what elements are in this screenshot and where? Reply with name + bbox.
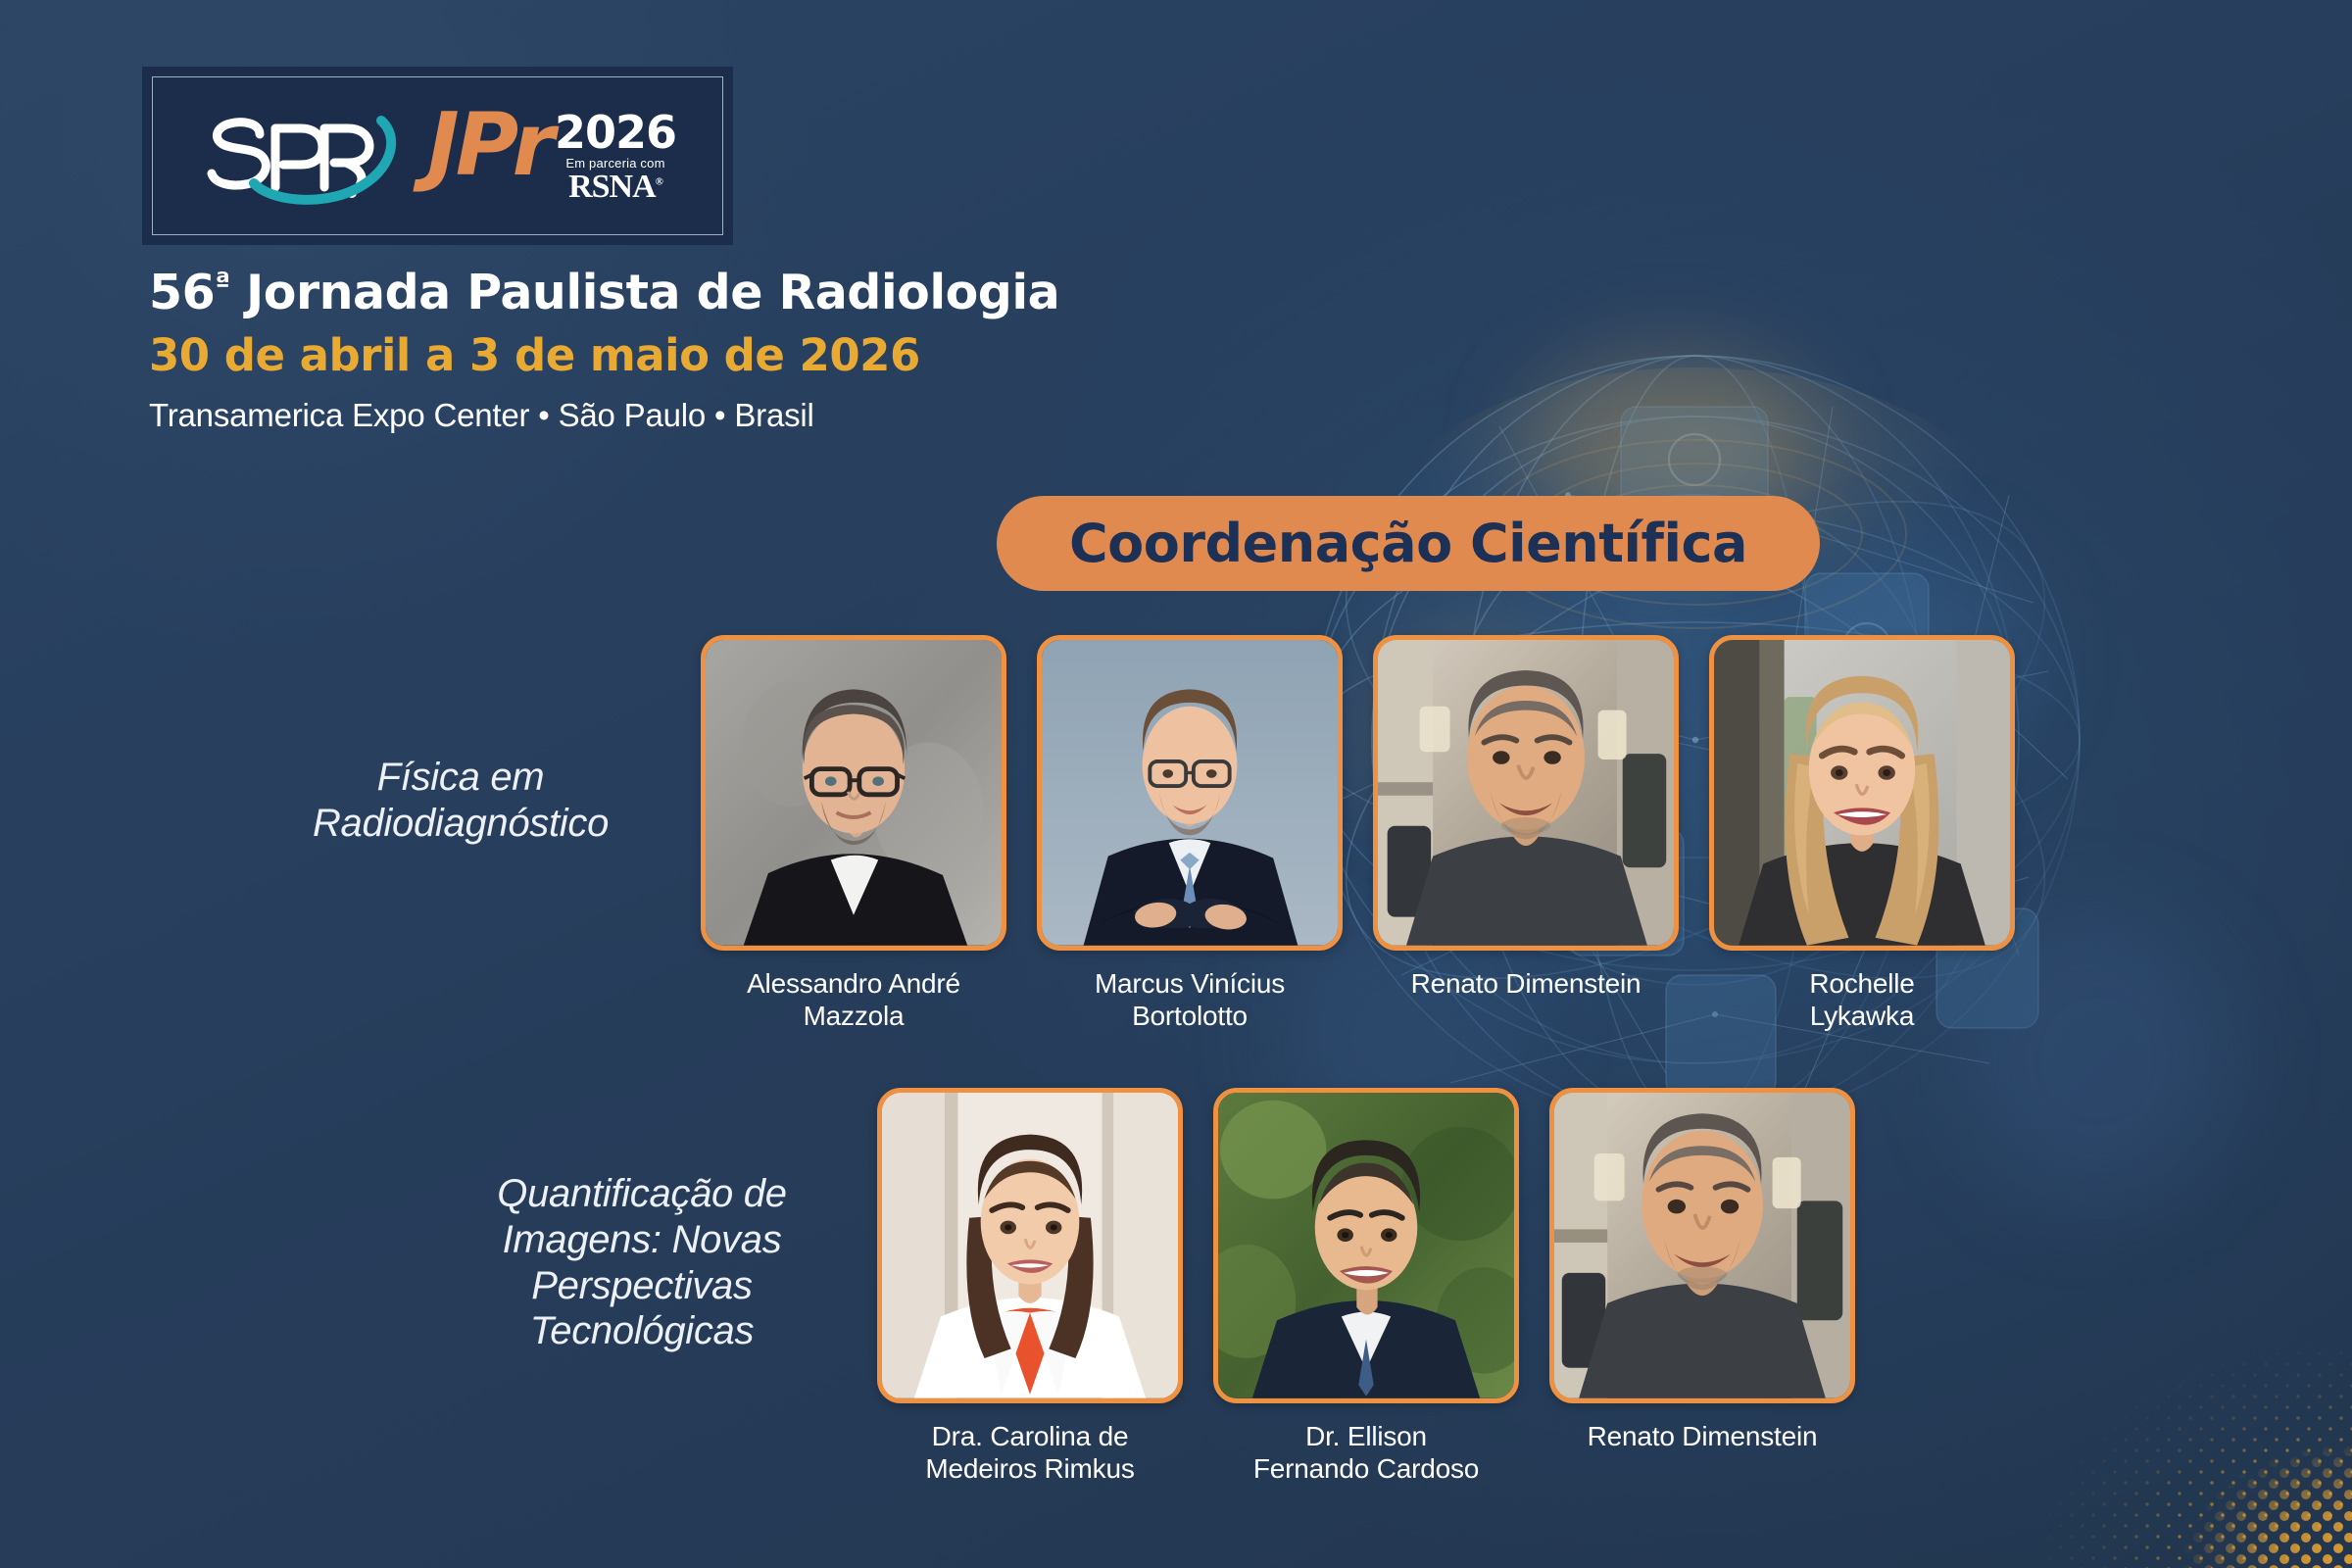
event-logo-box: JPr 2026 Em parceria com RSNA® bbox=[142, 67, 733, 245]
portrait-marcus-vinicius-bortolotto bbox=[1037, 635, 1343, 951]
coordinator-name: Renato Dimenstein bbox=[1588, 1420, 1818, 1452]
edition-number: 56 bbox=[149, 265, 215, 320]
jpr-wordmark: JPr 2026 Em parceria com RSNA® bbox=[427, 108, 676, 204]
portrait-renato-dimenstein bbox=[1373, 635, 1679, 951]
name-line: Renato Dimenstein bbox=[1588, 1420, 1818, 1452]
group-label-line: Imagens: Novas bbox=[431, 1217, 853, 1263]
portrait-carolina-de-medeiros-rimkus bbox=[877, 1088, 1183, 1403]
rsna-brand: RSNA bbox=[568, 169, 656, 205]
jpr-text: JPr bbox=[427, 108, 551, 182]
coordinators-row-2: Dra. Carolina de Medeiros Rimkus bbox=[877, 1088, 1855, 1485]
spr-logo-icon bbox=[199, 107, 410, 205]
coordinator-card: Renato Dimenstein bbox=[1373, 635, 1679, 1032]
portrait-renato-dimenstein-2 bbox=[1549, 1088, 1855, 1403]
coordinator-name: Alessandro André Mazzola bbox=[747, 967, 960, 1032]
page-title: 56ª Jornada Paulista de Radiologia bbox=[149, 265, 1059, 322]
coordinator-name: Dr. Ellison Fernando Cardoso bbox=[1253, 1420, 1479, 1485]
name-line: Bortolotto bbox=[1095, 1000, 1285, 1032]
portrait-rochelle-lykawka bbox=[1709, 635, 2015, 951]
name-line: Mazzola bbox=[747, 1000, 960, 1032]
group-label-quantificacao-de-imagens: Quantificação de Imagens: Novas Perspect… bbox=[431, 1171, 853, 1354]
coordinator-card: Alessandro André Mazzola bbox=[701, 635, 1006, 1032]
group-label-line: Quantificação de bbox=[431, 1171, 853, 1217]
section-badge: Coordenação Científica bbox=[997, 496, 1820, 591]
coordinator-name: Rochelle Lykawka bbox=[1809, 967, 1914, 1032]
name-line: Medeiros Rimkus bbox=[925, 1452, 1134, 1485]
name-line: Dra. Carolina de bbox=[925, 1420, 1134, 1452]
halftone-dot-pattern-large bbox=[2166, 1441, 2352, 1568]
coordinator-card: Rochelle Lykawka bbox=[1709, 635, 2015, 1032]
group-label-line: Física em bbox=[245, 755, 676, 801]
title-text: Jornada Paulista de Radiologia bbox=[230, 265, 1060, 320]
event-logo-inner-frame: JPr 2026 Em parceria com RSNA® bbox=[152, 76, 723, 235]
event-dates: 30 de abril a 3 de maio de 2026 bbox=[149, 328, 1059, 383]
name-line: Marcus Vinícius bbox=[1095, 967, 1285, 1000]
group-label-fisica-em-radiodiagnostico: Física em Radiodiagnóstico bbox=[245, 755, 676, 847]
name-line: Renato Dimenstein bbox=[1411, 967, 1641, 1000]
name-line: Lykawka bbox=[1809, 1000, 1914, 1032]
group-label-line: Perspectivas bbox=[431, 1263, 853, 1309]
rsna-logo-text: RSNA® bbox=[568, 171, 662, 204]
coordinators-row-1: Alessandro André Mazzola bbox=[701, 635, 2015, 1032]
edition-ordinal: ª bbox=[215, 267, 229, 299]
event-title-block: 56ª Jornada Paulista de Radiologia 30 de… bbox=[149, 265, 1059, 437]
name-line: Alessandro André bbox=[747, 967, 960, 1000]
group-label-line: Radiodiagnóstico bbox=[245, 801, 676, 847]
coordinator-name: Dra. Carolina de Medeiros Rimkus bbox=[925, 1420, 1134, 1485]
jpr-year: 2026 bbox=[555, 112, 676, 155]
coordinator-name: Renato Dimenstein bbox=[1411, 967, 1641, 1000]
section-badge-label: Coordenação Científica bbox=[1069, 513, 1747, 574]
coordinator-name: Marcus Vinícius Bortolotto bbox=[1095, 967, 1285, 1032]
portrait-alessandro-andre-mazzola bbox=[701, 635, 1006, 951]
group-label-line: Tecnológicas bbox=[431, 1308, 853, 1354]
portrait-ellison-fernando-cardoso bbox=[1213, 1088, 1519, 1403]
coordinator-card: Marcus Vinícius Bortolotto bbox=[1037, 635, 1343, 1032]
event-venue: Transamerica Expo Center • São Paulo • B… bbox=[149, 395, 1059, 437]
name-line: Dr. Ellison bbox=[1253, 1420, 1479, 1452]
coordinator-card: Dra. Carolina de Medeiros Rimkus bbox=[877, 1088, 1183, 1485]
coordinator-card: Dr. Ellison Fernando Cardoso bbox=[1213, 1088, 1519, 1485]
coordinator-card: Renato Dimenstein bbox=[1549, 1088, 1855, 1485]
rsna-trademark: ® bbox=[656, 176, 662, 188]
name-line: Rochelle bbox=[1809, 967, 1914, 1000]
name-line: Fernando Cardoso bbox=[1253, 1452, 1479, 1485]
